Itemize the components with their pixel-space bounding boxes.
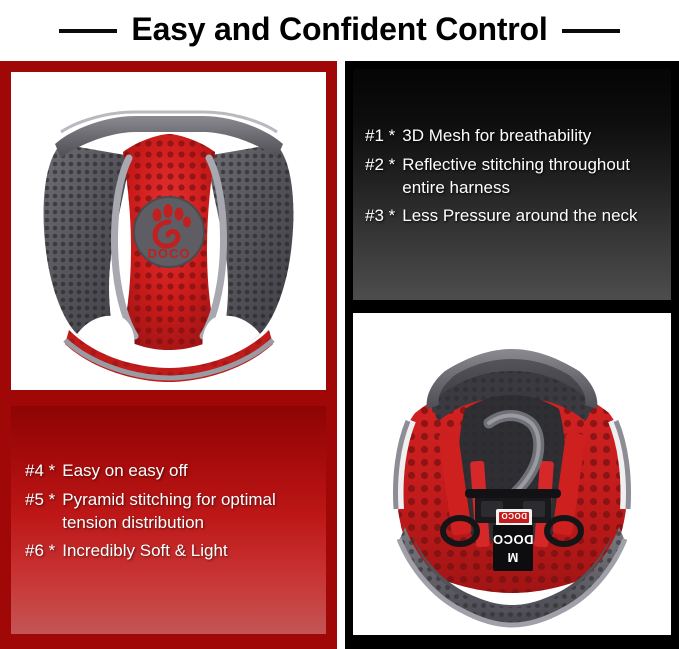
feature-2-text: Reflective stitching throughout entire h…: [402, 154, 661, 200]
right-column: #1 * 3D Mesh for breathability #2 * Refl…: [345, 61, 679, 649]
feature-3-tag: #3 *: [365, 205, 402, 228]
feature-3-text: Less Pressure around the neck: [402, 205, 661, 228]
feature-6-tag: #6 *: [25, 540, 62, 563]
feature-item-3: #3 * Less Pressure around the neck: [365, 205, 661, 228]
feature-item-1: #1 * 3D Mesh for breathability: [365, 125, 661, 148]
feature-6-text: Incredibly Soft & Light: [62, 540, 310, 563]
feature-item-2: #2 * Reflective stitching throughout ent…: [365, 154, 661, 200]
feature-1-text: 3D Mesh for breathability: [402, 125, 661, 148]
feature-item-4: #4 * Easy on easy off: [25, 460, 310, 483]
header-rule-right-icon: [562, 29, 620, 33]
header-rule-left-icon: [59, 29, 117, 33]
size-label-brand: DOCO: [493, 532, 534, 547]
feature-1-tag: #1 *: [365, 125, 402, 148]
feature-2-tag: #2 *: [365, 154, 402, 177]
feature-4-tag: #4 *: [25, 460, 62, 483]
feature-5-tag: #5 *: [25, 489, 62, 512]
feature-item-5: #5 * Pyramid stitching for optimal tensi…: [25, 489, 310, 535]
features-panel-dark: #1 * 3D Mesh for breathability #2 * Refl…: [353, 69, 671, 300]
page-title: Easy and Confident Control: [131, 13, 547, 49]
feature-5-text: Pyramid stitching for optimal tension di…: [62, 489, 310, 535]
feature-item-6: #6 * Incredibly Soft & Light: [25, 540, 310, 563]
dog-harness-back-photo: DOCO M DOCO: [353, 313, 671, 635]
left-column: DOCO #4 * Easy on easy off #5 * Pyramid …: [0, 61, 337, 649]
svg-text:DOCO: DOCO: [501, 511, 527, 520]
svg-text:DOCO: DOCO: [148, 246, 191, 261]
feature-4-text: Easy on easy off: [62, 460, 310, 483]
features-panel-red: #4 * Easy on easy off #5 * Pyramid stitc…: [11, 406, 326, 634]
page-header: Easy and Confident Control: [0, 0, 679, 61]
dog-harness-front-photo: DOCO: [11, 72, 326, 390]
size-label-size: M: [508, 550, 519, 565]
